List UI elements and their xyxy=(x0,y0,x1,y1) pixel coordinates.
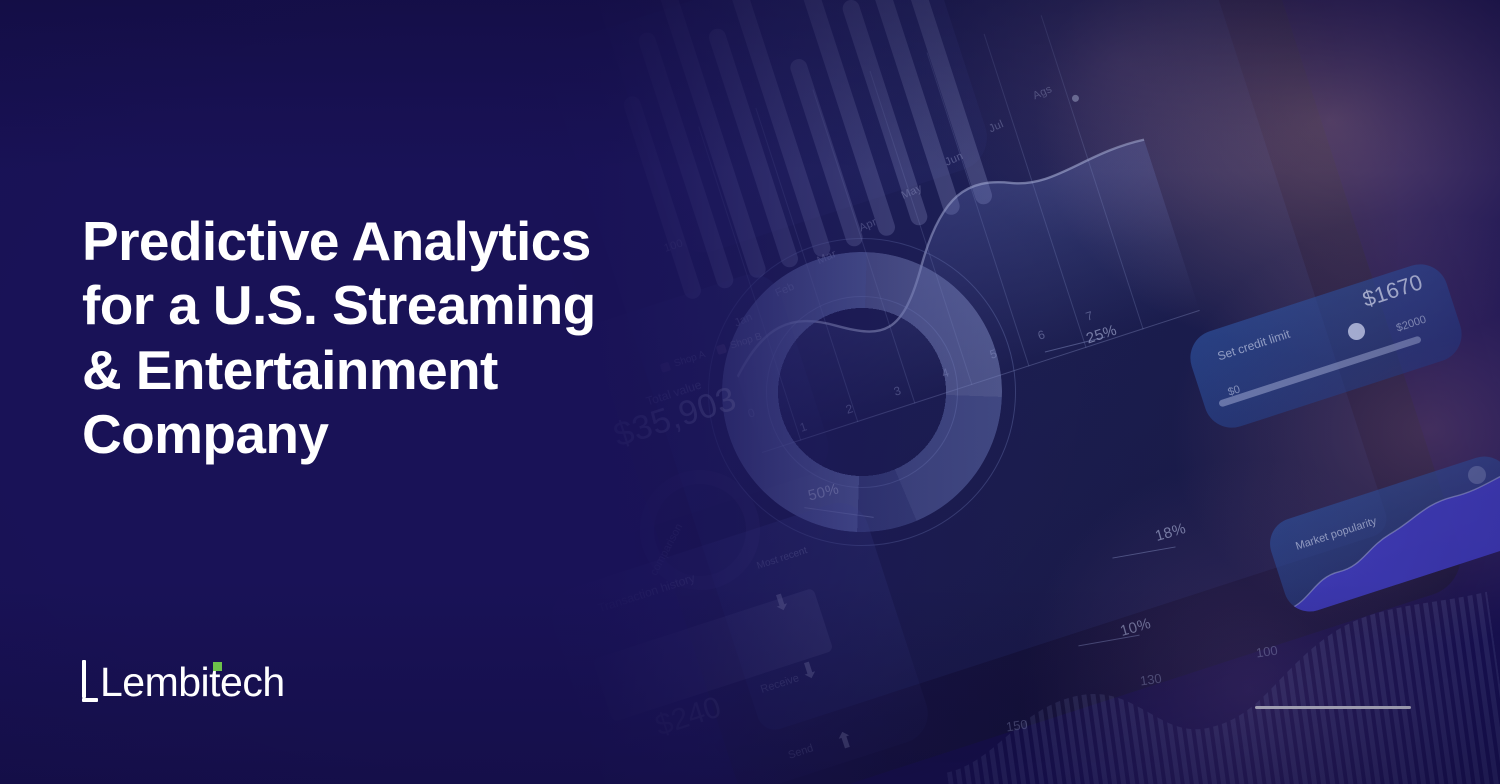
logo-l-mark-icon xyxy=(82,660,98,702)
logo-wordmark: Lembitech xyxy=(100,663,285,702)
logo-accent-dot-icon xyxy=(213,662,222,671)
page-title: Predictive Analytics for a U.S. Streamin… xyxy=(82,209,782,466)
brand-logo[interactable]: Lembitech xyxy=(82,660,285,702)
title-line-3: & Entertainment xyxy=(82,338,782,402)
hero-banner: Jan Feb Mar Apr May Jun Jul Ags 100 0 1 … xyxy=(0,0,1500,784)
hero-content: Predictive Analytics for a U.S. Streamin… xyxy=(0,0,1500,784)
title-line-1: Predictive Analytics xyxy=(82,209,782,273)
title-line-4: Company xyxy=(82,402,782,466)
logo-name: Lembitech xyxy=(100,659,285,705)
title-line-2: for a U.S. Streaming xyxy=(82,273,782,337)
